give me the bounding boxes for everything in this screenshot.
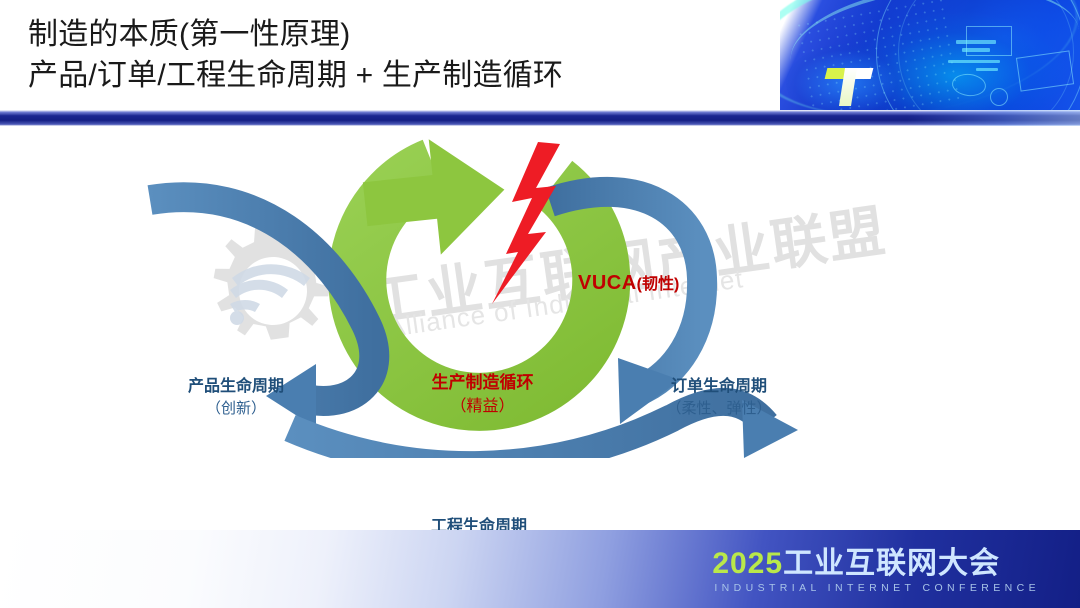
label-order-lifecycle: 订单生命周期 （柔性、弹性） <box>634 376 804 420</box>
slide-canvas: 制造的本质(第一性原理) 产品/订单/工程生命周期 + 生产制造循环 工业互联网… <box>0 0 1080 608</box>
tech-decoration-graphic <box>780 0 1080 122</box>
label-core-title: 生产制造循环 <box>405 371 560 395</box>
label-product-lifecycle: 产品生命周期 （创新） <box>166 376 306 420</box>
label-core-sub: （精益） <box>405 395 560 419</box>
conference-logo-year: 2025 <box>712 547 783 580</box>
label-product-lifecycle-title: 产品生命周期 <box>166 376 306 398</box>
label-production-cycle-core: 生产制造循环 （精益） <box>405 371 560 419</box>
label-vuca-suffix: (韧性) <box>637 276 680 293</box>
title-line-2: 产品/订单/工程生命周期 + 生产制造循环 <box>28 55 808 96</box>
header-divider-shine <box>0 110 1080 126</box>
slide-body: 工业互联网产业联盟 Alliance of Industrial Interne… <box>0 126 1080 530</box>
page-title: 制造的本质(第一性原理) 产品/订单/工程生命周期 + 生产制造循环 <box>28 14 808 96</box>
label-vuca: VUCA(韧性) <box>578 270 679 295</box>
conference-logo-chinese: 工业互联网大会 <box>783 547 1000 580</box>
label-order-lifecycle-sub: （柔性、弹性） <box>634 398 804 420</box>
conference-logo: 2025工业互联网大会 INDUSTRIAL INTERNET CONFEREN… <box>712 547 1040 594</box>
conference-logo-english: INDUSTRIAL INTERNET CONFERENCE <box>712 582 1040 594</box>
t-logo-icon <box>820 58 884 110</box>
title-line-1: 制造的本质(第一性原理) <box>28 14 808 55</box>
footer-band: 2025工业互联网大会 INDUSTRIAL INTERNET CONFEREN… <box>0 530 1080 608</box>
label-product-lifecycle-sub: （创新） <box>166 398 306 420</box>
label-vuca-acronym: VUCA <box>578 272 637 294</box>
lightning-bolt-vuca-icon <box>492 142 560 304</box>
label-order-lifecycle-title: 订单生命周期 <box>634 376 804 398</box>
